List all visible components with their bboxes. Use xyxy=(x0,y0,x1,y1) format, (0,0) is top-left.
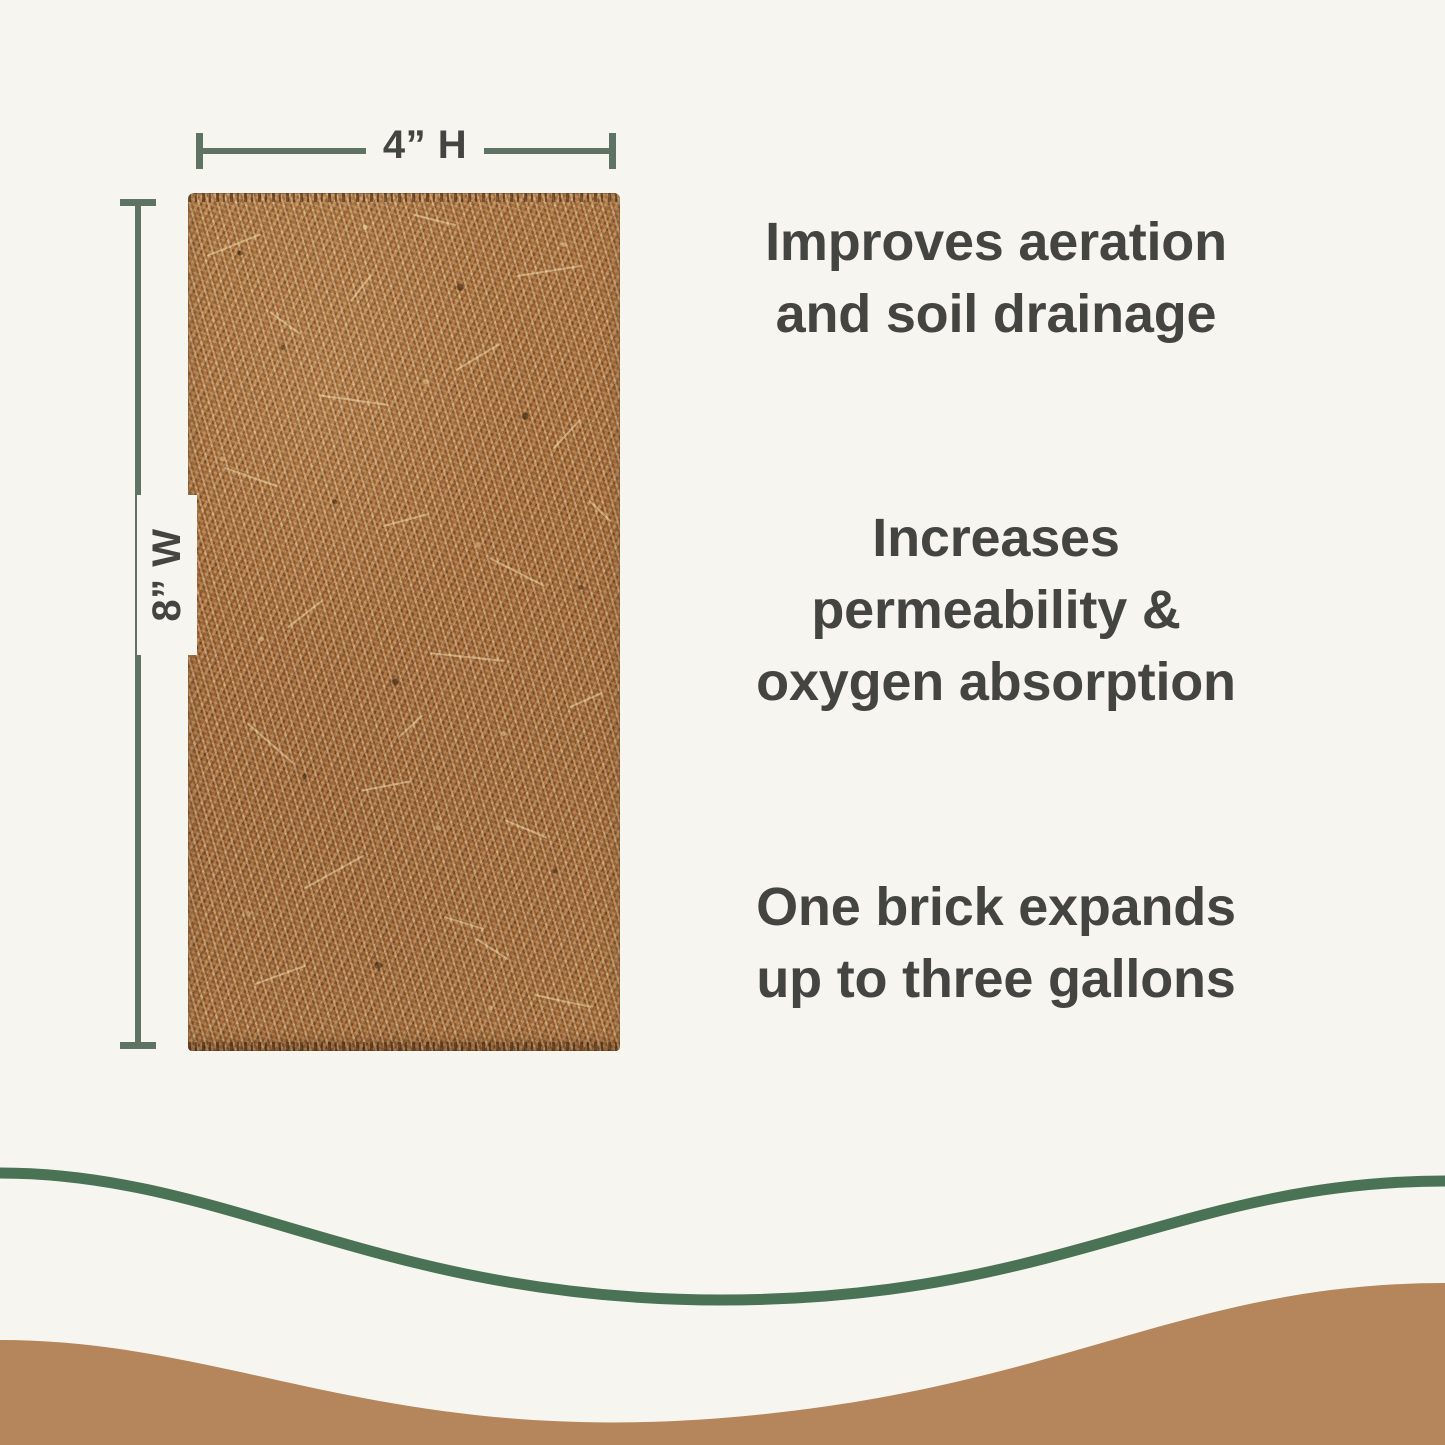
coir-brick-image xyxy=(188,193,620,1051)
width-dimension-cap-top xyxy=(120,199,156,206)
benefit-permeability-line-1: Increases xyxy=(686,502,1306,574)
benefit-permeability-line-2: permeability & xyxy=(686,574,1306,646)
infographic-canvas: 4” H 8” W xyxy=(0,0,1445,1445)
coir-brick-fibre-texture xyxy=(188,193,620,1051)
height-dimension-cap-right xyxy=(609,133,616,169)
bottom-wave-decoration xyxy=(0,1115,1445,1445)
benefit-aeration: Improves aeration and soil drainage xyxy=(686,206,1306,350)
benefit-expansion-line-1: One brick expands xyxy=(686,871,1306,943)
benefit-expansion-line-2: up to three gallons xyxy=(686,943,1306,1015)
width-dimension-cap-bottom xyxy=(120,1042,156,1049)
wave-green-stroke xyxy=(0,1173,1445,1300)
height-dimension-cap-left xyxy=(196,133,203,169)
width-dimension-label: 8” W xyxy=(137,495,197,655)
benefit-aeration-line-2: and soil drainage xyxy=(686,278,1306,350)
height-dimension-label: 4” H xyxy=(366,116,484,174)
benefit-expansion: One brick expands up to three gallons xyxy=(686,871,1306,1015)
coir-brick-top-edge xyxy=(188,193,620,202)
wave-brown-fill xyxy=(0,1283,1445,1445)
coir-brick-bottom-edge xyxy=(188,1042,620,1051)
benefit-permeability: Increases permeability & oxygen absorpti… xyxy=(686,502,1306,718)
benefit-aeration-line-1: Improves aeration xyxy=(686,206,1306,278)
benefit-permeability-line-3: oxygen absorption xyxy=(686,646,1306,718)
